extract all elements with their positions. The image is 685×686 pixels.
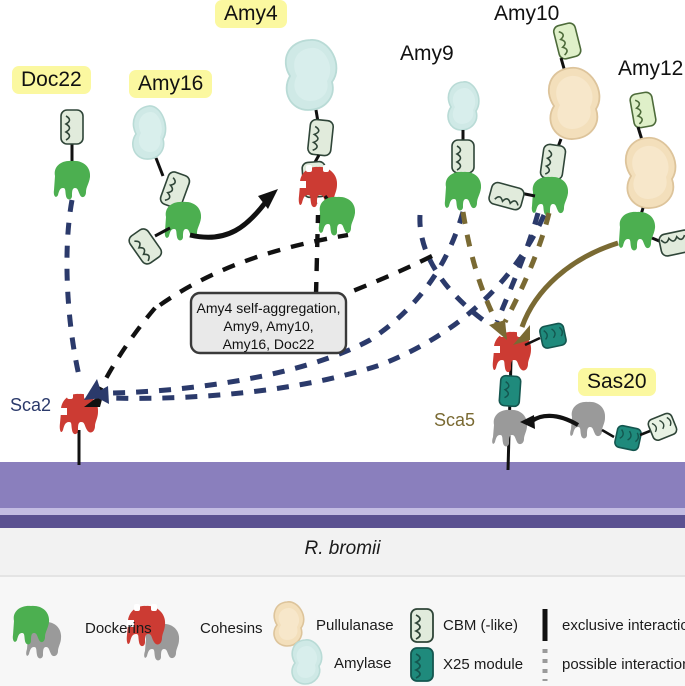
legend-label-cbm: CBM (-like) [443,617,518,634]
legend-label-pullulanase: Pullulanase [316,617,394,634]
legend-label-possible: possible interactions [562,656,685,673]
legend-icon-pullulanase [274,602,304,646]
dashed-to-sca5 [420,212,549,340]
legend-icon-x25 [411,648,433,681]
legend-label-cohesins: Cohesins [200,620,263,637]
scaffoldin-sca5[interactable] [492,323,567,470]
legend-label-exclusive: exclusive interactions [562,617,685,634]
legend-icon-amylase [292,640,322,684]
scaffoldin-label-sca5[interactable]: Sca5 [434,410,475,431]
protein-amy12[interactable] [619,91,685,257]
protein-sas20[interactable] [520,402,678,451]
protein-amy4[interactable] [286,40,355,235]
protein-label-doc22[interactable]: Doc22 [12,68,91,92]
protein-label-amy16[interactable]: Amy16 [129,72,212,96]
protein-amy9[interactable] [445,82,481,211]
protein-label-amy9[interactable]: Amy9 [400,42,454,66]
arrow-amy12-to-sca5 [513,243,618,345]
protein-label-amy10[interactable]: Amy10 [494,2,559,26]
legend-label-dockerins: Dockerins [85,620,152,637]
species-label: R. bromii [0,538,685,560]
legend-label-x25: X25 module [443,656,523,673]
dashed-black-interactions [160,215,432,305]
protein-label-amy4[interactable]: Amy4 [215,2,287,26]
protein-doc22[interactable] [54,110,90,199]
legend-label-amylase: Amylase [334,655,392,672]
protein-amy16[interactable] [127,106,201,266]
callout-box-text: Amy4 self-aggregation, Amy9, Amy10, Amy1… [191,300,346,354]
protein-amy10[interactable] [488,22,600,216]
figure-canvas: Doc22 Amy16 Amy4 Amy9 Amy10 Amy12 Sas20 … [0,0,685,686]
legend-icon-cbm [411,609,433,642]
protein-label-amy12[interactable]: Amy12 [618,57,683,81]
scaffoldin-label-sca2[interactable]: Sca2 [10,395,51,416]
protein-label-sas20[interactable]: Sas20 [578,370,656,394]
arrow-amy16-to-amy4 [190,189,278,237]
